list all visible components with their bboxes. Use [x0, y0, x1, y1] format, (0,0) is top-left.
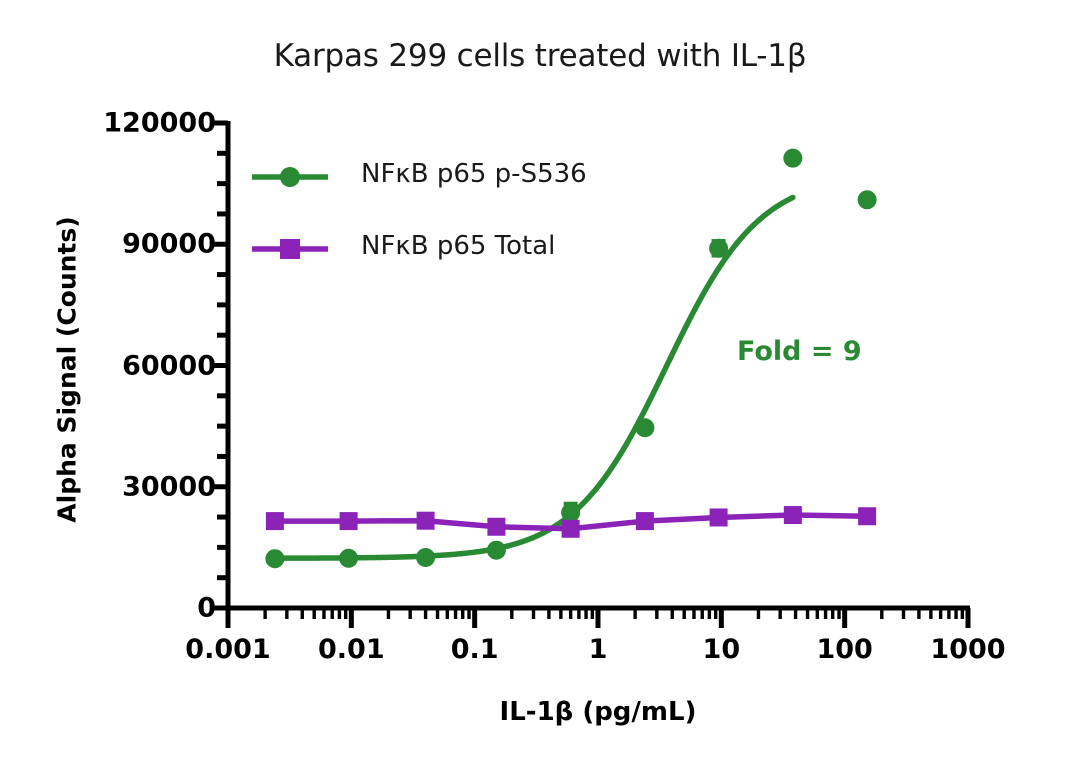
data-point: [265, 549, 284, 568]
data-point: [417, 512, 435, 530]
plot-area: [0, 0, 1080, 784]
fold-annotation: Fold = 9: [737, 336, 862, 367]
data-point: [487, 518, 505, 536]
legend-marker: [280, 239, 300, 259]
legend: [252, 167, 328, 259]
data-point: [858, 507, 876, 525]
data-point: [416, 548, 435, 567]
data-point: [339, 549, 358, 568]
data-point: [783, 149, 802, 168]
legend-label-nfkb-p65-p-s536: NFκB p65 p-S536: [361, 159, 587, 189]
data-point: [635, 418, 654, 437]
data-point: [710, 508, 728, 526]
legend-marker: [280, 167, 300, 187]
axes: [210, 121, 970, 628]
data-point: [487, 541, 506, 560]
data-point: [858, 190, 877, 209]
data-point: [636, 512, 654, 530]
data-point: [784, 506, 802, 524]
chart-figure: Karpas 299 cells treated with IL-1β IL-1…: [0, 0, 1080, 784]
legend-label-nfkb-p65-total: NFκB p65 Total: [361, 231, 555, 261]
data-point: [709, 239, 728, 258]
data-point: [340, 512, 358, 530]
data-point: [266, 512, 284, 530]
data-point: [561, 503, 580, 522]
data-point: [562, 520, 580, 538]
